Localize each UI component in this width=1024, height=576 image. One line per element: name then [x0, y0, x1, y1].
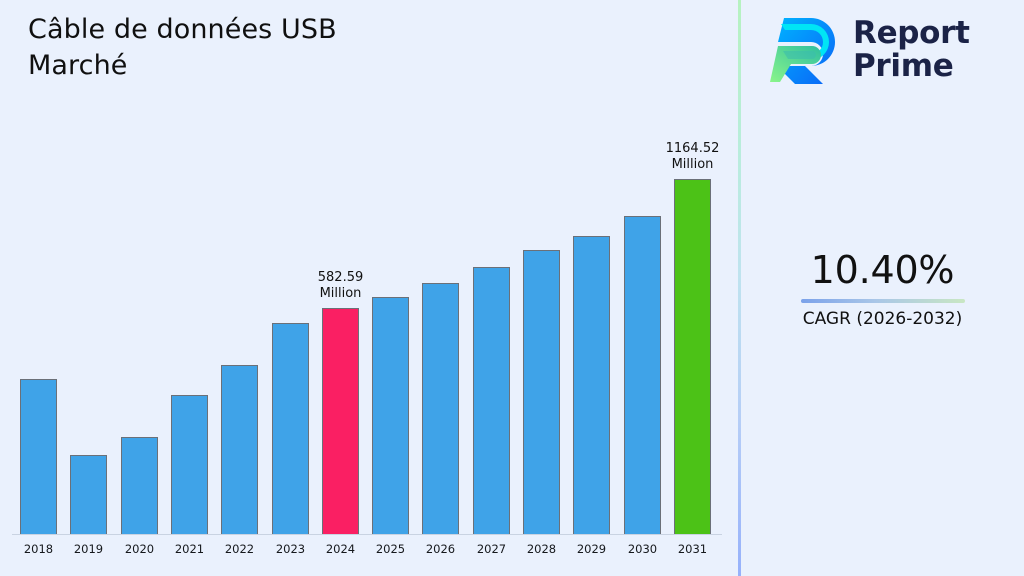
cagr-value: 10.40% — [741, 250, 1024, 292]
bar-rect-2026[interactable] — [422, 283, 459, 534]
page-title: Câble de données USB Marché — [28, 12, 548, 83]
screenshot-root: Câble de données USB Marché 201820192020… — [0, 0, 1024, 576]
bar-rect-2018[interactable] — [20, 379, 57, 534]
x-axis-label-2020: 2020 — [121, 542, 158, 556]
chart-panel: Câble de données USB Marché 201820192020… — [0, 0, 738, 576]
cagr-label: CAGR (2026-2032) — [741, 309, 1024, 329]
x-axis-label-2019: 2019 — [70, 542, 107, 556]
report-prime-r-logo-icon — [767, 12, 841, 88]
cagr-block: 10.40% CAGR (2026-2032) — [741, 250, 1024, 329]
x-axis-label-2027: 2027 — [473, 542, 510, 556]
bar-rect-2029[interactable] — [573, 236, 610, 534]
bar-rect-2019[interactable] — [70, 455, 107, 534]
bar-rect-2021[interactable] — [171, 395, 208, 534]
bar-value-label-2031: 1164.52 Million — [638, 141, 748, 174]
x-axis-label-2022: 2022 — [221, 542, 258, 556]
x-axis-label-2024: 2024 — [322, 542, 359, 556]
x-axis-label-2021: 2021 — [171, 542, 208, 556]
x-axis-label-2029: 2029 — [573, 542, 610, 556]
cagr-divider-rule — [801, 299, 965, 303]
x-axis-label-2018: 2018 — [20, 542, 57, 556]
x-axis-label-2028: 2028 — [523, 542, 560, 556]
brand-name: Report Prime — [853, 17, 970, 83]
x-axis-label-2030: 2030 — [624, 542, 661, 556]
x-axis-label-2031: 2031 — [674, 542, 711, 556]
brand-logo: Report Prime — [767, 12, 970, 88]
brand-panel: Report Prime 10.40% CAGR (2026-2032) — [741, 0, 1024, 576]
bar-rect-2031[interactable] — [674, 179, 711, 534]
chart-baseline-axis — [12, 534, 722, 535]
x-axis-label-2023: 2023 — [272, 542, 309, 556]
bar-rect-2030[interactable] — [624, 216, 661, 534]
x-axis-label-2026: 2026 — [422, 542, 459, 556]
bar-rect-2020[interactable] — [121, 437, 158, 534]
bar-rect-2024[interactable] — [322, 308, 359, 534]
bar-rect-2022[interactable] — [221, 365, 258, 534]
x-axis-label-2025: 2025 — [372, 542, 409, 556]
bar-rect-2023[interactable] — [272, 323, 309, 534]
bar-chart-plot-area: 201820192020202120222023582.59 Million20… — [0, 110, 738, 576]
bar-rect-2027[interactable] — [473, 267, 510, 534]
bar-rect-2028[interactable] — [523, 250, 560, 534]
bar-rect-2025[interactable] — [372, 297, 409, 534]
